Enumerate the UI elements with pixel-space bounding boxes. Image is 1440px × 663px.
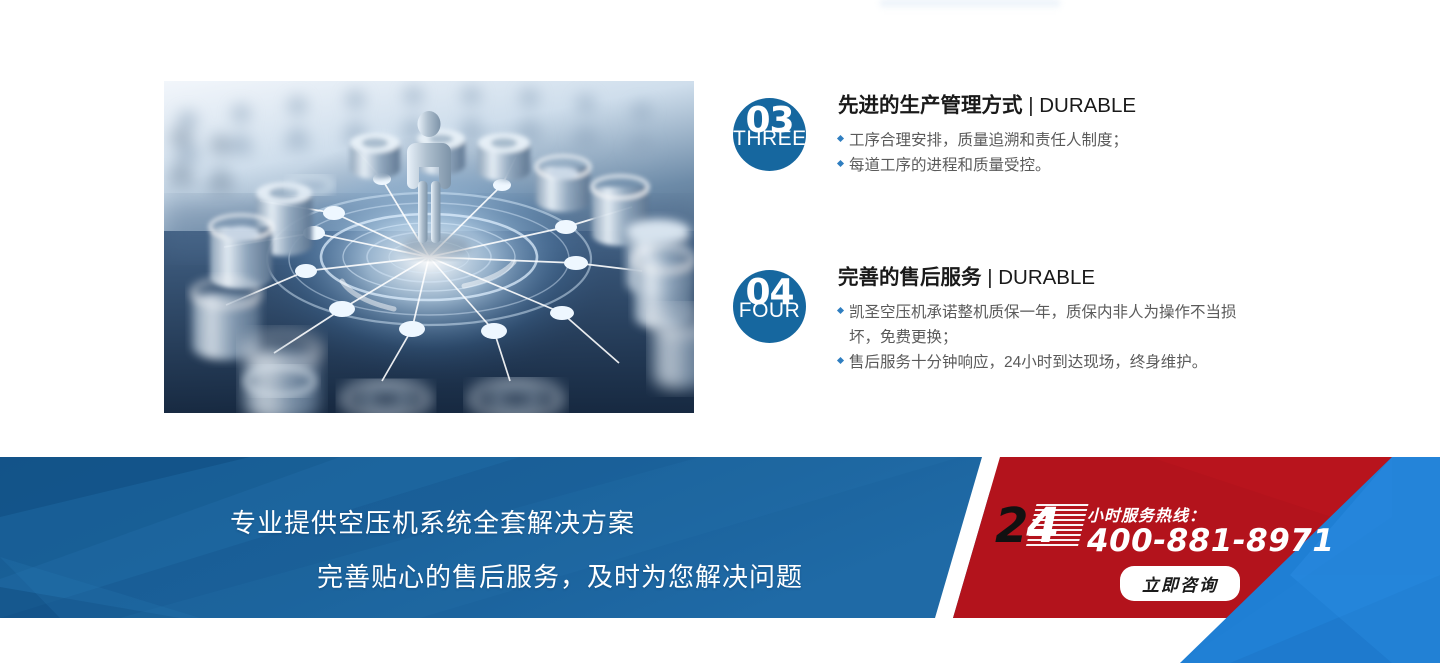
hotline-block: 24 小时服务热线： 400-881-8971 立即咨询 (995, 498, 1325, 608)
feature-bullet: 售后服务十分钟响应，24小时到达现场，终身维护。 (838, 350, 1263, 375)
feature-title-separator: | (1023, 94, 1040, 117)
feature-title-cn: 完善的售后服务 (838, 266, 982, 289)
top-edge-artifact (880, 0, 1060, 10)
diamond-bullet-icon (837, 135, 844, 142)
feature-item-04: 04 FOUR 完善的售后服务 | DURABLE 凯圣空压机承诺整机质保一年，… (733, 266, 1263, 375)
feature-badge-03: 03 THREE (733, 98, 806, 171)
diamond-bullet-icon (837, 357, 844, 364)
feature-bullet-text: 工序合理安排，质量追溯和责任人制度； (849, 132, 1128, 149)
feature-bullet: 工序合理安排，质量追溯和责任人制度； (838, 128, 1263, 153)
feature-title-04: 完善的售后服务 | DURABLE (838, 266, 1263, 291)
feature-bullet-text: 每道工序的进程和质量受控。 (849, 157, 1051, 174)
feature-title-separator: | (982, 266, 999, 289)
feature-title-cn: 先进的生产管理方式 (838, 94, 1023, 117)
feature-bullet-text: 凯圣空压机承诺整机质保一年，质保内非人为操作不当损坏，免费更换； (849, 304, 1237, 346)
feature-bullet: 每道工序的进程和质量受控。 (838, 153, 1263, 178)
feature-item-03: 03 THREE 先进的生产管理方式 | DURABLE 工序合理安排，质量追溯… (733, 94, 1263, 194)
diamond-bullet-icon (837, 160, 844, 167)
feature-list: 03 THREE 先进的生产管理方式 | DURABLE 工序合理安排，质量追溯… (733, 94, 1263, 375)
consult-now-button[interactable]: 立即咨询 (1120, 566, 1240, 601)
feature-bullet-text: 售后服务十分钟响应，24小时到达现场，终身维护。 (849, 354, 1207, 371)
badge-word: FOUR (733, 300, 806, 321)
feature-body-04: 凯圣空压机承诺整机质保一年，质保内非人为操作不当损坏，免费更换； 售后服务十分钟… (838, 300, 1263, 375)
badge-word: THREE (733, 128, 806, 149)
diamond-bullet-icon (837, 307, 844, 314)
hotline-24-logo: 24 (995, 502, 1058, 550)
feature-title-en: DURABLE (1039, 94, 1136, 117)
feature-title-en: DURABLE (998, 266, 1095, 289)
feature-badge-04: 04 FOUR (733, 270, 806, 343)
feature-body-03: 工序合理安排，质量追溯和责任人制度； 每道工序的进程和质量受控。 (838, 128, 1263, 178)
hotline-number: 400-881-8971 (1087, 523, 1334, 559)
hero-network-illustration (164, 81, 694, 413)
hotline-digit-2: 2 (995, 498, 1026, 554)
feature-title-03: 先进的生产管理方式 | DURABLE (838, 94, 1263, 119)
feature-bullet: 凯圣空压机承诺整机质保一年，质保内非人为操作不当损坏，免费更换； (838, 300, 1263, 350)
hotline-digit-4: 4 (1026, 498, 1057, 554)
